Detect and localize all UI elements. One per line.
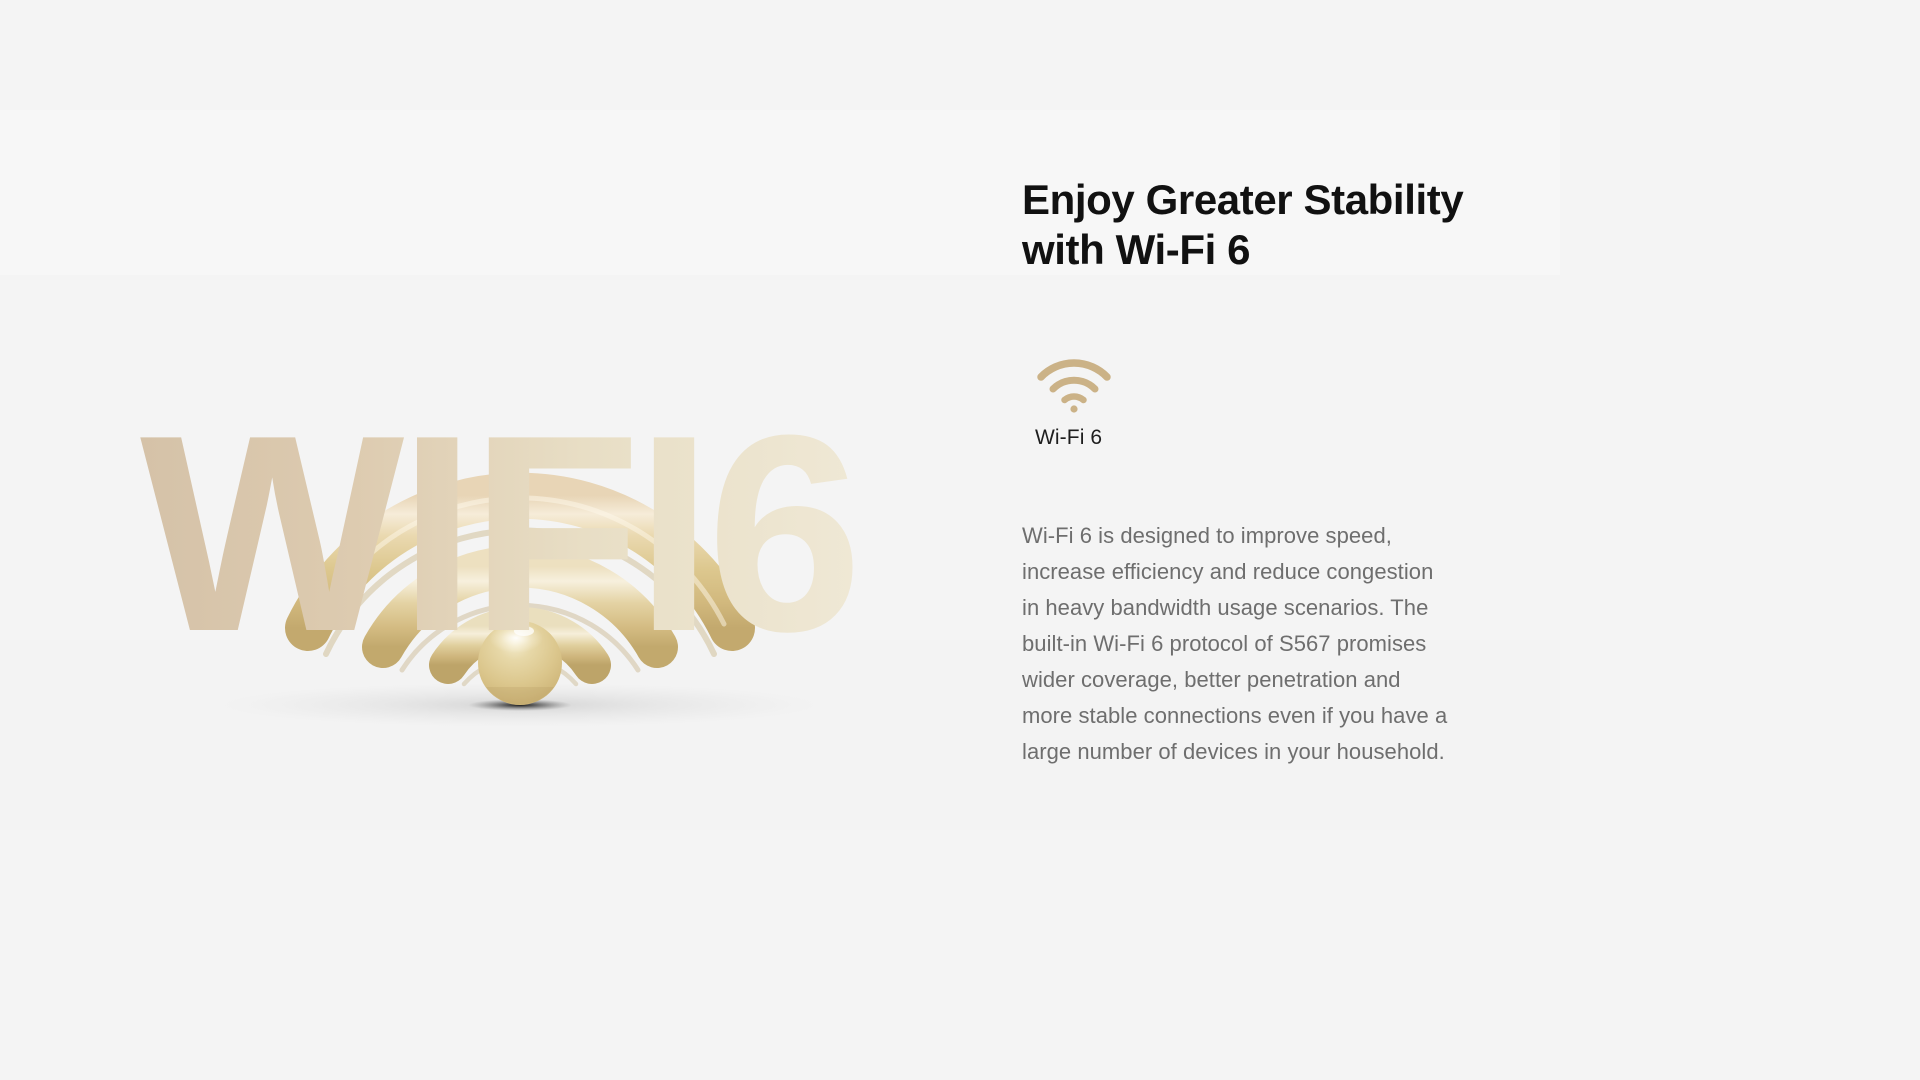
- wifi-icon: [1035, 355, 1113, 415]
- wifi-dot-sphere: [478, 621, 562, 705]
- wifi-arcs-3d-illustration: [120, 250, 920, 810]
- content-column: Enjoy Greater Stability with Wi-Fi 6 Wi-…: [1022, 0, 1642, 1080]
- body-paragraph: Wi-Fi 6 is designed to improve speed, in…: [1022, 518, 1582, 770]
- wifi-6-3d-graphic: WIFI6: [120, 250, 920, 810]
- feature-badge-wifi6: Wi-Fi 6: [1035, 355, 1235, 448]
- page-title: Enjoy Greater Stability with Wi-Fi 6: [1022, 175, 1622, 274]
- page-root: WIFI6 Enjoy Greater Stability with Wi-Fi…: [0, 0, 1920, 1080]
- feature-label: Wi-Fi 6: [1035, 427, 1235, 448]
- hero-image-panel: WIFI6: [0, 0, 1020, 1080]
